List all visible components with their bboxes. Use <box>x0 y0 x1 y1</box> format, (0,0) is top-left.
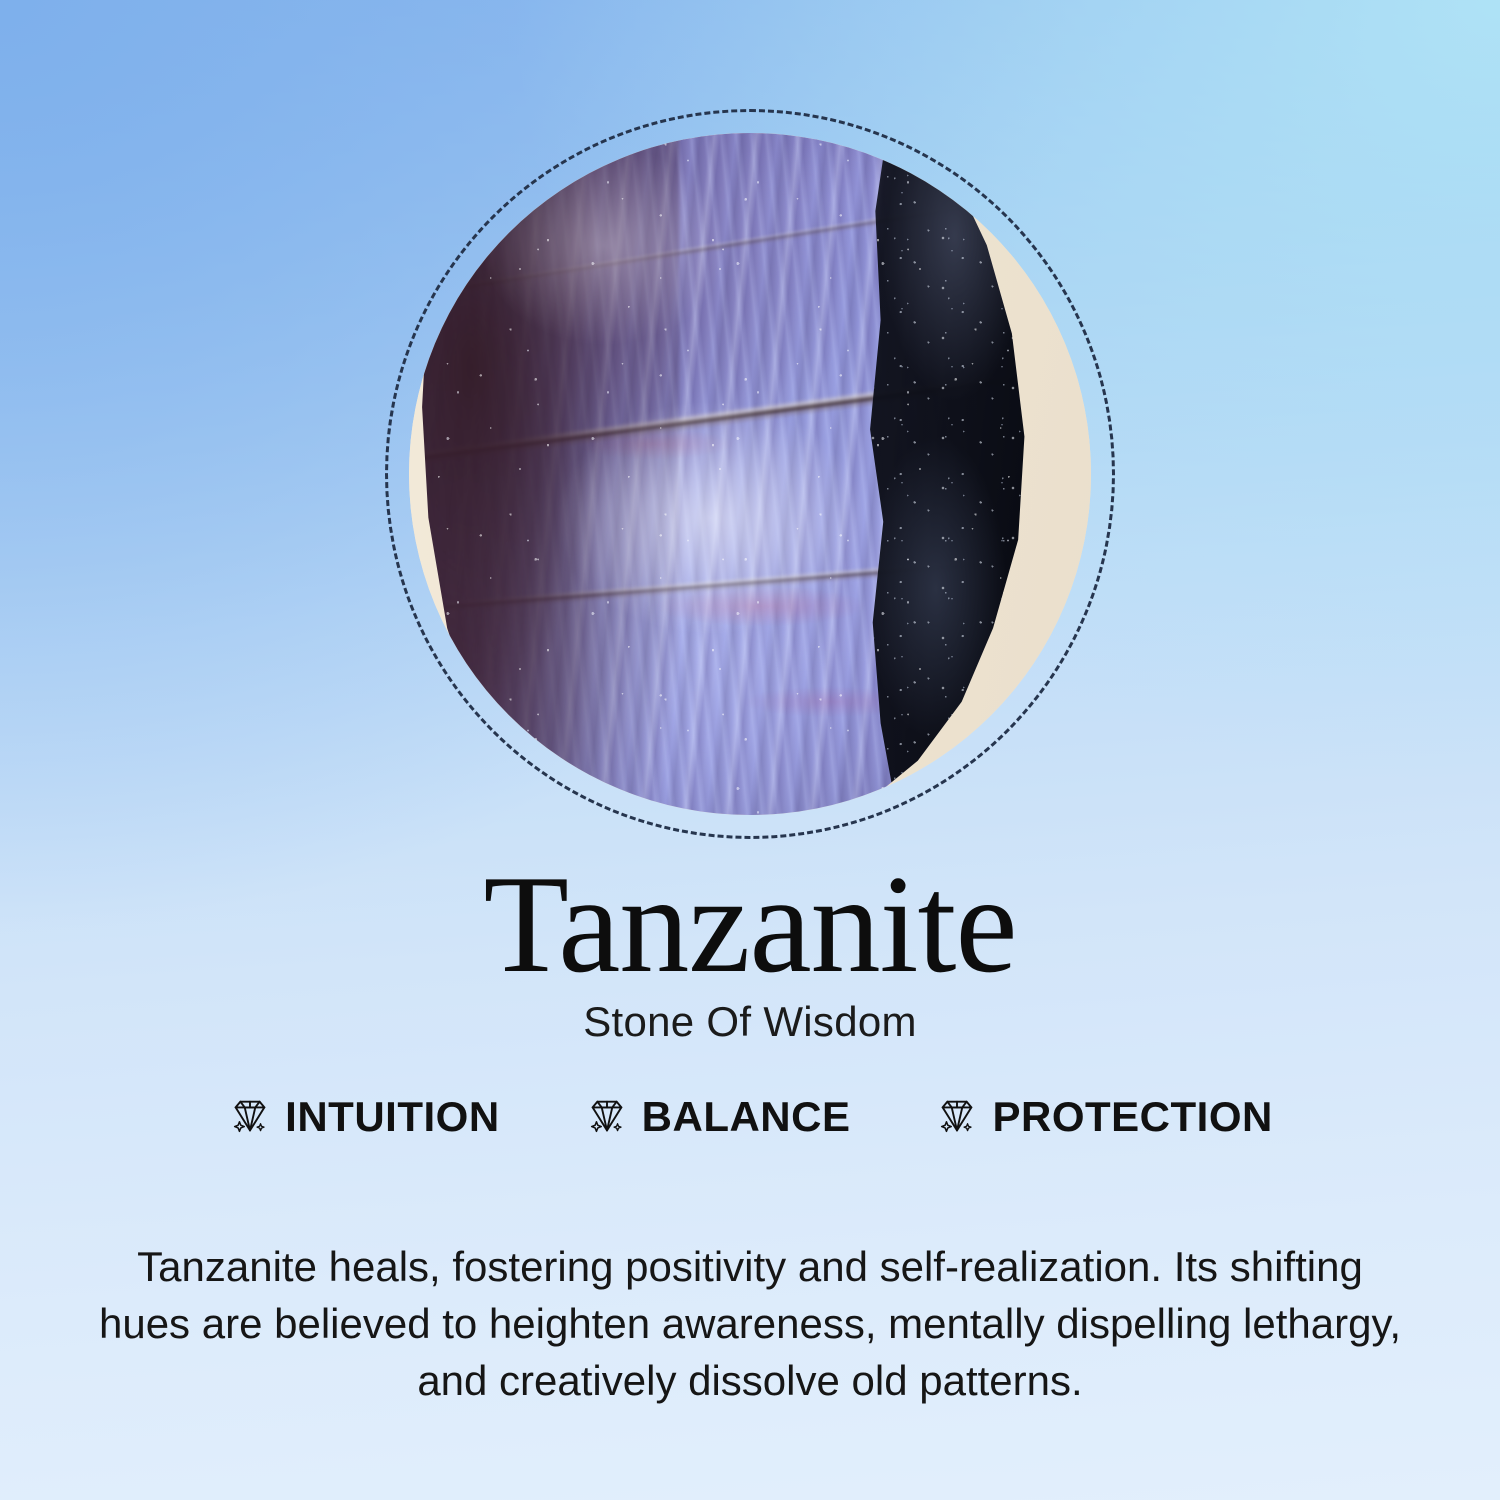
gemstone-photo <box>409 133 1091 815</box>
keyword-list: INTUITION BALANCE <box>0 1093 1500 1141</box>
tanzanite-specimen <box>416 133 1043 815</box>
page-subtitle: Stone Of Wisdom <box>0 998 1500 1046</box>
page-title: Tanzanite <box>0 855 1500 995</box>
keyword-label: BALANCE <box>642 1093 851 1141</box>
keyword-item-intuition: INTUITION <box>227 1093 499 1141</box>
stone-highlight-bloom <box>416 133 1043 815</box>
keyword-label: PROTECTION <box>992 1093 1272 1141</box>
keyword-item-balance: BALANCE <box>584 1093 851 1141</box>
diamond-icon <box>934 1094 980 1140</box>
gemstone-hero <box>385 109 1115 839</box>
diamond-icon <box>227 1094 273 1140</box>
keyword-label: INTUITION <box>285 1093 499 1141</box>
diamond-icon <box>584 1094 630 1140</box>
keyword-item-protection: PROTECTION <box>934 1093 1272 1141</box>
description-text: Tanzanite heals, fostering positivity an… <box>95 1238 1405 1409</box>
